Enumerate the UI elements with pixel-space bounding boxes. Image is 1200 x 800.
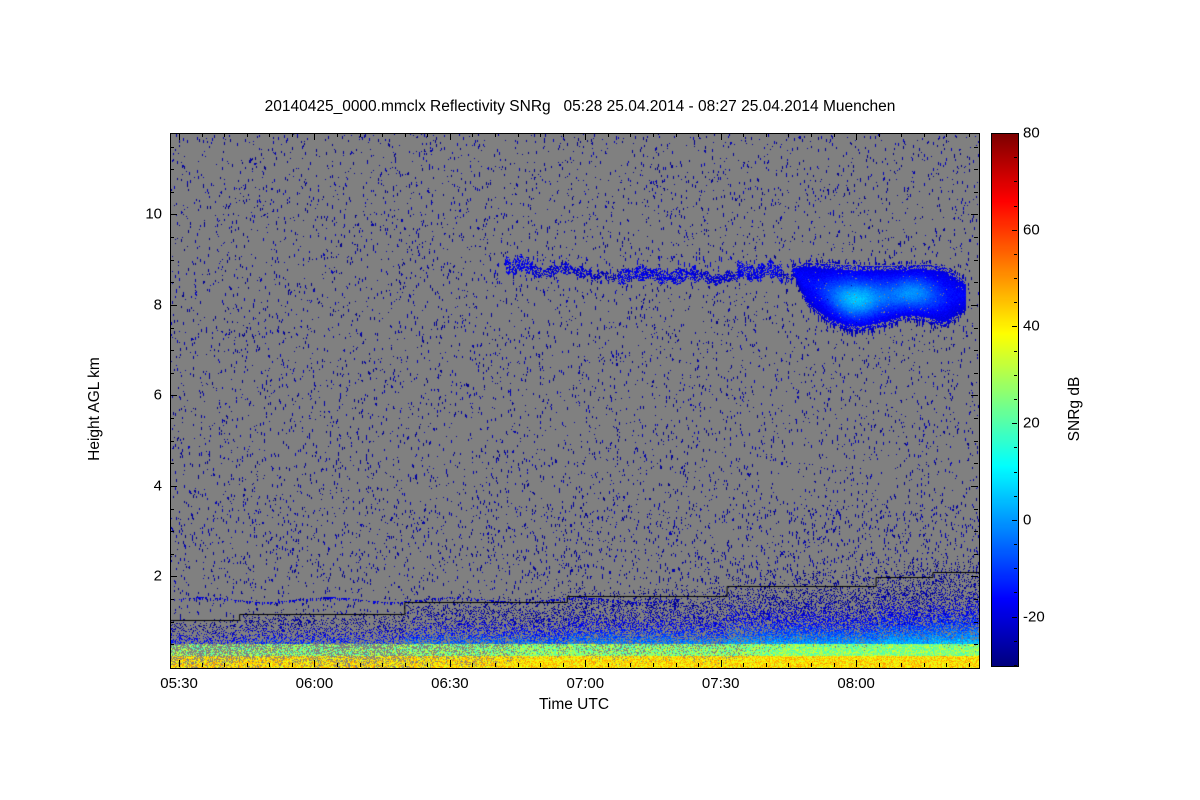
y-tick-minor bbox=[974, 441, 978, 442]
x-tick-major bbox=[721, 660, 722, 667]
y-tick-minor bbox=[974, 418, 978, 419]
x-tick-minor bbox=[946, 133, 947, 137]
y-tick-major bbox=[170, 305, 177, 306]
x-tick-minor bbox=[382, 133, 383, 137]
y-tick-minor bbox=[974, 237, 978, 238]
x-tick-minor bbox=[202, 133, 203, 137]
y-tick-minor bbox=[974, 169, 978, 170]
x-tick-minor bbox=[676, 663, 677, 667]
y-tick-minor bbox=[170, 509, 174, 510]
colorbar-tick-minor bbox=[1014, 351, 1017, 352]
x-tick-minor bbox=[698, 133, 699, 137]
colorbar-tick-minor bbox=[1014, 447, 1017, 448]
colorbar-tick-minor bbox=[1014, 592, 1017, 593]
y-tick-minor bbox=[974, 350, 978, 351]
y-tick-major bbox=[971, 305, 978, 306]
x-tick-minor bbox=[360, 663, 361, 667]
x-tick-major bbox=[856, 133, 857, 140]
y-tick-label: 4 bbox=[124, 477, 162, 494]
x-tick-major bbox=[314, 660, 315, 667]
x-tick-minor bbox=[247, 133, 248, 137]
x-tick-minor bbox=[518, 663, 519, 667]
y-tick-minor bbox=[974, 554, 978, 555]
x-tick-minor bbox=[405, 133, 406, 137]
y-tick-minor bbox=[170, 282, 174, 283]
x-tick-minor bbox=[743, 133, 744, 137]
colorbar-tick-minor bbox=[1014, 302, 1017, 303]
y-tick-minor bbox=[170, 622, 174, 623]
x-tick-minor bbox=[224, 133, 225, 137]
x-tick-minor bbox=[766, 133, 767, 137]
x-tick-minor bbox=[292, 133, 293, 137]
plot-area[interactable] bbox=[170, 133, 980, 669]
colorbar-tick-label: 60 bbox=[1023, 221, 1040, 238]
x-tick-minor bbox=[563, 133, 564, 137]
x-tick-minor bbox=[495, 133, 496, 137]
x-tick-minor bbox=[202, 663, 203, 667]
colorbar[interactable] bbox=[991, 133, 1019, 667]
x-tick-major bbox=[450, 133, 451, 140]
x-tick-major bbox=[179, 133, 180, 140]
colorbar-tick-minor bbox=[1014, 206, 1017, 207]
y-tick-major bbox=[971, 214, 978, 215]
x-tick-minor bbox=[969, 133, 970, 137]
x-tick-minor bbox=[292, 663, 293, 667]
x-tick-major bbox=[585, 660, 586, 667]
colorbar-tick-minor bbox=[1014, 375, 1017, 376]
x-tick-minor bbox=[788, 663, 789, 667]
y-tick-major bbox=[971, 395, 978, 396]
y-tick-minor bbox=[974, 192, 978, 193]
x-tick-minor bbox=[676, 133, 677, 137]
x-tick-label: 07:30 bbox=[702, 675, 740, 692]
y-tick-minor bbox=[974, 147, 978, 148]
x-tick-major bbox=[721, 133, 722, 140]
colorbar-tick-minor bbox=[1014, 472, 1017, 473]
x-tick-minor bbox=[540, 663, 541, 667]
y-tick-major bbox=[971, 486, 978, 487]
x-tick-minor bbox=[788, 133, 789, 137]
x-tick-label: 06:30 bbox=[431, 675, 469, 692]
colorbar-tick-label: 40 bbox=[1023, 318, 1040, 335]
colorbar-tick-label: -20 bbox=[1023, 608, 1045, 625]
x-tick-minor bbox=[653, 133, 654, 137]
x-tick-minor bbox=[924, 133, 925, 137]
y-tick-minor bbox=[170, 531, 174, 532]
figure-canvas: 20140425_0000.mmclx Reflectivity SNRg 05… bbox=[0, 0, 1200, 800]
y-tick-minor bbox=[974, 644, 978, 645]
y-tick-minor bbox=[974, 282, 978, 283]
x-tick-label: 07:00 bbox=[567, 675, 605, 692]
x-tick-minor bbox=[563, 663, 564, 667]
colorbar-tick-minor bbox=[1014, 157, 1017, 158]
colorbar-tick-minor bbox=[1014, 568, 1017, 569]
y-tick-minor bbox=[170, 373, 174, 374]
x-tick-minor bbox=[247, 663, 248, 667]
x-tick-minor bbox=[360, 133, 361, 137]
x-tick-major bbox=[179, 660, 180, 667]
x-tick-minor bbox=[472, 663, 473, 667]
x-tick-minor bbox=[472, 133, 473, 137]
colorbar-tick bbox=[1012, 617, 1017, 618]
x-tick-minor bbox=[698, 663, 699, 667]
x-tick-minor bbox=[608, 133, 609, 137]
y-tick-minor bbox=[974, 463, 978, 464]
colorbar-tick bbox=[1012, 520, 1017, 521]
x-tick-label: 06:00 bbox=[296, 675, 334, 692]
y-tick-minor bbox=[170, 554, 174, 555]
colorbar-tick-minor bbox=[1014, 254, 1017, 255]
x-tick-minor bbox=[540, 133, 541, 137]
y-tick-minor bbox=[974, 373, 978, 374]
colorbar-tick bbox=[1012, 326, 1017, 327]
x-axis-label: Time UTC bbox=[170, 696, 978, 714]
y-tick-major bbox=[971, 576, 978, 577]
y-tick-minor bbox=[170, 147, 174, 148]
colorbar-tick-label: 0 bbox=[1023, 511, 1031, 528]
y-tick-major bbox=[170, 576, 177, 577]
x-tick-minor bbox=[405, 663, 406, 667]
x-tick-major bbox=[585, 133, 586, 140]
y-tick-major bbox=[170, 486, 177, 487]
colorbar-tick-minor bbox=[1014, 278, 1017, 279]
x-tick-minor bbox=[427, 663, 428, 667]
colorbar-tick bbox=[1012, 133, 1017, 134]
colorbar-tick-minor bbox=[1014, 399, 1017, 400]
y-tick-label: 10 bbox=[124, 206, 162, 223]
colorbar-tick-minor bbox=[1014, 496, 1017, 497]
x-tick-minor bbox=[337, 663, 338, 667]
y-tick-major bbox=[170, 395, 177, 396]
colorbar-tick bbox=[1012, 230, 1017, 231]
y-tick-minor bbox=[170, 463, 174, 464]
x-tick-minor bbox=[653, 663, 654, 667]
x-tick-minor bbox=[495, 663, 496, 667]
x-tick-minor bbox=[608, 663, 609, 667]
y-tick-minor bbox=[170, 169, 174, 170]
colorbar-gradient bbox=[992, 134, 1018, 666]
y-tick-minor bbox=[170, 350, 174, 351]
colorbar-tick-minor bbox=[1014, 544, 1017, 545]
x-tick-minor bbox=[811, 133, 812, 137]
y-tick-label: 8 bbox=[124, 296, 162, 313]
x-tick-minor bbox=[879, 663, 880, 667]
y-tick-label: 2 bbox=[124, 568, 162, 585]
y-tick-minor bbox=[170, 644, 174, 645]
x-tick-label: 08:00 bbox=[837, 675, 875, 692]
y-tick-major bbox=[170, 214, 177, 215]
y-tick-label: 6 bbox=[124, 387, 162, 404]
x-tick-minor bbox=[924, 663, 925, 667]
x-tick-major bbox=[856, 660, 857, 667]
x-tick-minor bbox=[427, 133, 428, 137]
colorbar-tick-minor bbox=[1014, 665, 1017, 666]
x-tick-minor bbox=[269, 663, 270, 667]
x-tick-minor bbox=[224, 663, 225, 667]
x-tick-major bbox=[314, 133, 315, 140]
x-tick-minor bbox=[269, 133, 270, 137]
y-tick-minor bbox=[170, 192, 174, 193]
x-tick-minor bbox=[630, 133, 631, 137]
y-tick-minor bbox=[170, 418, 174, 419]
y-tick-minor bbox=[170, 599, 174, 600]
colorbar-tick-minor bbox=[1014, 181, 1017, 182]
x-tick-minor bbox=[969, 663, 970, 667]
x-tick-minor bbox=[811, 663, 812, 667]
x-tick-label: 05:30 bbox=[160, 675, 198, 692]
y-tick-minor bbox=[170, 260, 174, 261]
x-tick-minor bbox=[946, 663, 947, 667]
y-tick-minor bbox=[170, 328, 174, 329]
y-tick-minor bbox=[974, 328, 978, 329]
y-tick-minor bbox=[974, 260, 978, 261]
colorbar-tick-minor bbox=[1014, 641, 1017, 642]
x-tick-minor bbox=[879, 133, 880, 137]
x-tick-minor bbox=[518, 133, 519, 137]
y-tick-minor bbox=[974, 509, 978, 510]
x-tick-minor bbox=[382, 663, 383, 667]
colorbar-label: SNRg dB bbox=[1066, 309, 1084, 509]
y-tick-minor bbox=[170, 441, 174, 442]
colorbar-tick-label: 80 bbox=[1023, 125, 1040, 142]
plot-title: 20140425_0000.mmclx Reflectivity SNRg 05… bbox=[0, 98, 1160, 116]
x-tick-major bbox=[450, 660, 451, 667]
x-tick-minor bbox=[630, 663, 631, 667]
x-tick-minor bbox=[901, 663, 902, 667]
reflectivity-heatmap bbox=[171, 134, 979, 668]
y-tick-minor bbox=[974, 622, 978, 623]
x-tick-minor bbox=[901, 133, 902, 137]
y-tick-minor bbox=[974, 531, 978, 532]
y-axis-label: Height AGL km bbox=[86, 309, 104, 509]
colorbar-tick-label: 20 bbox=[1023, 415, 1040, 432]
y-tick-minor bbox=[974, 599, 978, 600]
x-tick-minor bbox=[834, 133, 835, 137]
x-tick-minor bbox=[337, 133, 338, 137]
x-tick-minor bbox=[834, 663, 835, 667]
x-tick-minor bbox=[743, 663, 744, 667]
colorbar-tick bbox=[1012, 423, 1017, 424]
x-tick-minor bbox=[766, 663, 767, 667]
y-tick-minor bbox=[170, 237, 174, 238]
